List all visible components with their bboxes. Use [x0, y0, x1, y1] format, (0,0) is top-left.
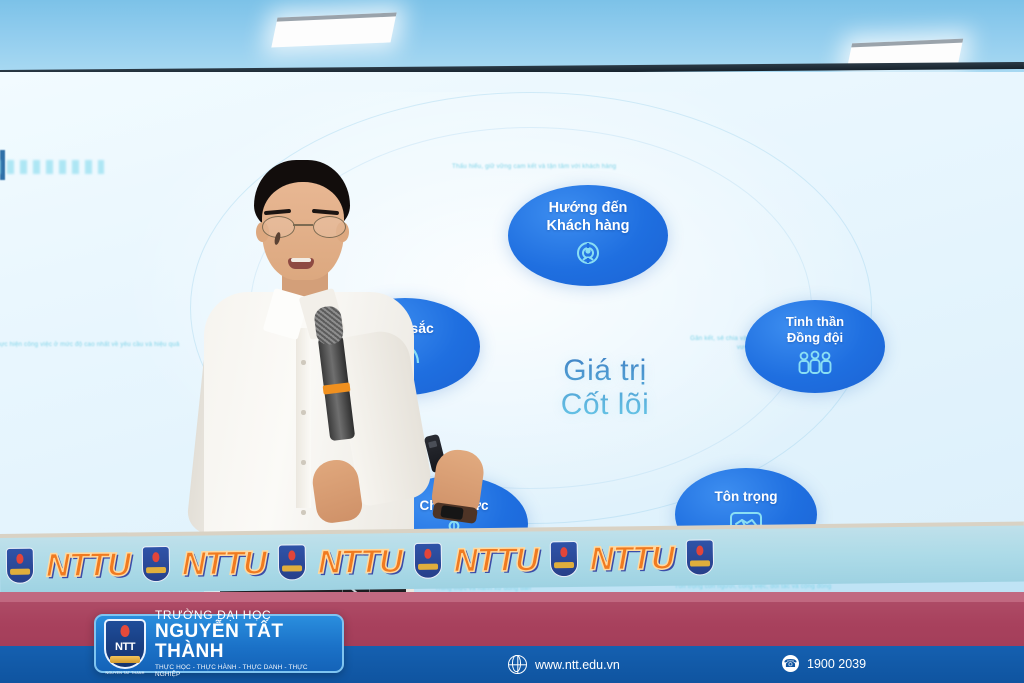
nttu-crest-icon	[414, 543, 442, 579]
footer-hotline-text: 1900 2039	[807, 657, 866, 671]
nttu-wordmark: NTTU	[454, 540, 538, 579]
glasses-lens-right	[313, 216, 346, 238]
nttu-crest-icon	[6, 548, 34, 584]
shirt-button	[301, 410, 306, 415]
caption-excellence: Thực hiện công việc ở mức độ cao nhất về…	[0, 340, 186, 349]
nttu-crest-icon	[550, 541, 578, 577]
nttu-crest-icon	[686, 539, 714, 575]
nttu-crest-icon	[278, 544, 306, 580]
bubble-label-line2: Khách hàng	[547, 218, 630, 234]
shirt-button	[301, 460, 306, 465]
ceiling-light-icon	[271, 12, 396, 47]
university-logo-badge: NTT NGUYEN TAT THANH TRƯỜNG ĐẠI HỌC NGUY…	[94, 614, 344, 673]
crest-caption: NGUYEN TAT THANH	[105, 671, 144, 675]
value-bubble-teamwork: Tinh thần Đồng đội	[745, 300, 885, 393]
bubble-label-line1: Tôn trọng	[715, 489, 778, 504]
team-people-icon	[795, 350, 835, 379]
badge-line-1: TRƯỜNG ĐẠI HỌC	[155, 609, 334, 622]
shirt-button	[301, 510, 306, 515]
nttu-banner: NTTU NTTU NTTU NTTU NTTU	[0, 525, 1024, 594]
slide-center-title: Giá trị Cốt lõi	[505, 354, 705, 421]
glasses	[258, 216, 350, 236]
projection-screen: Thấu hiểu, giữ vững cam kết và tận tâm v…	[0, 72, 1024, 540]
nttu-wordmark: NTTU	[590, 539, 674, 578]
customer-target-icon	[573, 240, 603, 271]
nttu-wordmark: NTTU	[46, 545, 130, 584]
value-bubble-customer: Hướng đến Khách hàng	[508, 185, 668, 286]
glasses-bridge	[293, 224, 313, 226]
shirt-placket	[296, 328, 311, 508]
microphone-band	[323, 382, 351, 394]
crest-monogram: NTT	[115, 641, 135, 653]
footer-website[interactable]: www.ntt.edu.vn	[508, 655, 620, 674]
ceiling	[0, 0, 1024, 73]
bubble-label-line1: Hướng đến	[549, 200, 628, 216]
phone-icon: ☎	[782, 655, 799, 672]
badge-text: TRƯỜNG ĐẠI HỌC NGUYỄN TẤT THÀNH THỰC HỌC…	[155, 609, 334, 679]
nttu-crest-icon	[142, 546, 170, 582]
flame-icon	[121, 625, 130, 637]
globe-icon	[508, 655, 527, 674]
footer-website-text: www.ntt.edu.vn	[535, 658, 620, 672]
photo-scene: Thấu hiểu, giữ vững cam kết và tận tâm v…	[0, 0, 1024, 683]
caption-customer: Thấu hiểu, giữ vững cam kết và tận tâm v…	[452, 162, 616, 171]
mouth	[288, 258, 314, 269]
nttu-shield-icon: NTT NGUYEN TAT THANH	[104, 619, 146, 669]
nttu-wordmark: NTTU	[318, 542, 402, 581]
floor-highlight	[0, 592, 1024, 602]
nttu-wordmark: NTTU	[182, 544, 266, 583]
crest-ribbon	[110, 656, 140, 663]
center-title-line1: Giá trị	[563, 354, 647, 387]
bubble-label-line2: Đồng đội	[787, 330, 843, 345]
footer-hotline[interactable]: ☎ 1900 2039	[782, 655, 866, 672]
badge-line-2: NGUYỄN TẤT THÀNH	[155, 622, 334, 662]
shirt-button	[301, 360, 306, 365]
bubble-label-line1: Tinh thần	[786, 314, 844, 329]
center-title-line2: Cốt lõi	[561, 388, 650, 421]
slide-watermark	[0, 160, 104, 174]
badge-line-3: THỰC HỌC - THỰC HÀNH - THỰC DANH - THỰC …	[155, 665, 334, 678]
